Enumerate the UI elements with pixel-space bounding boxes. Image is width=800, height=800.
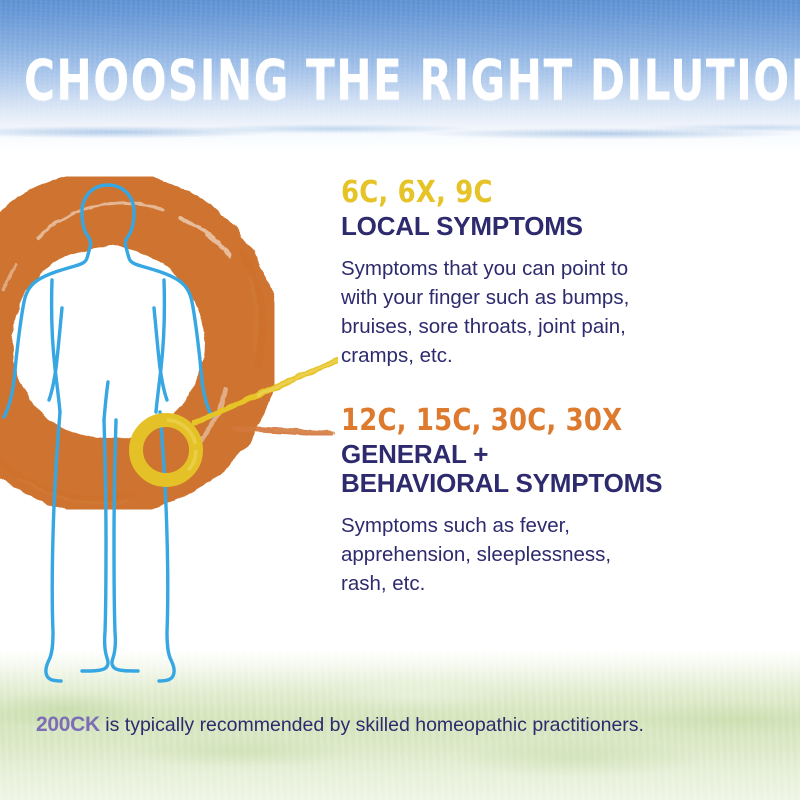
footer-note-text: is typically recommended by skilled home… — [100, 714, 644, 736]
desc-line: Symptoms such as fever, — [341, 511, 761, 540]
footer-note: 200CK is typically recommended by skille… — [36, 713, 796, 737]
dilution-name-line: LOCAL SYMPTOMS — [341, 212, 761, 242]
dilution-block-general: 12C, 15C, 30C, 30X GENERAL + BEHAVIORAL … — [341, 404, 761, 598]
desc-line: cramps, etc. — [341, 341, 761, 370]
dilution-block-local: 6C, 6X, 9C LOCAL SYMPTOMS Symptoms that … — [341, 176, 761, 370]
desc-line: Symptoms that you can point to — [341, 254, 761, 283]
infographic-poster: CHOOSING THE RIGHT DILUTION — [0, 0, 800, 800]
dilution-name-line: GENERAL + — [341, 440, 761, 470]
dilution-codes-general: 12C, 15C, 30C, 30X — [341, 404, 744, 437]
dilution-name-general: GENERAL + BEHAVIORAL SYMPTOMS — [341, 440, 761, 499]
dilution-text-column: 6C, 6X, 9C LOCAL SYMPTOMS Symptoms that … — [341, 176, 761, 598]
footer-dilution-code: 200CK — [36, 713, 100, 736]
dilution-name-line: BEHAVIORAL SYMPTOMS — [341, 469, 761, 499]
desc-line: apprehension, sleeplessness, — [341, 540, 761, 569]
dilution-description-local: Symptoms that you can point to with your… — [341, 254, 761, 370]
dilution-name-local: LOCAL SYMPTOMS — [341, 212, 761, 242]
body-diagram — [0, 160, 338, 720]
desc-line: rash, etc. — [341, 569, 761, 598]
dilution-description-general: Symptoms such as fever, apprehension, sl… — [341, 511, 761, 598]
page-title: CHOOSING THE RIGHT DILUTION — [24, 52, 776, 109]
desc-line: bruises, sore throats, joint pain, — [341, 312, 761, 341]
dilution-codes-local: 6C, 6X, 9C — [341, 176, 744, 209]
desc-line: with your finger such as bumps, — [341, 283, 761, 312]
